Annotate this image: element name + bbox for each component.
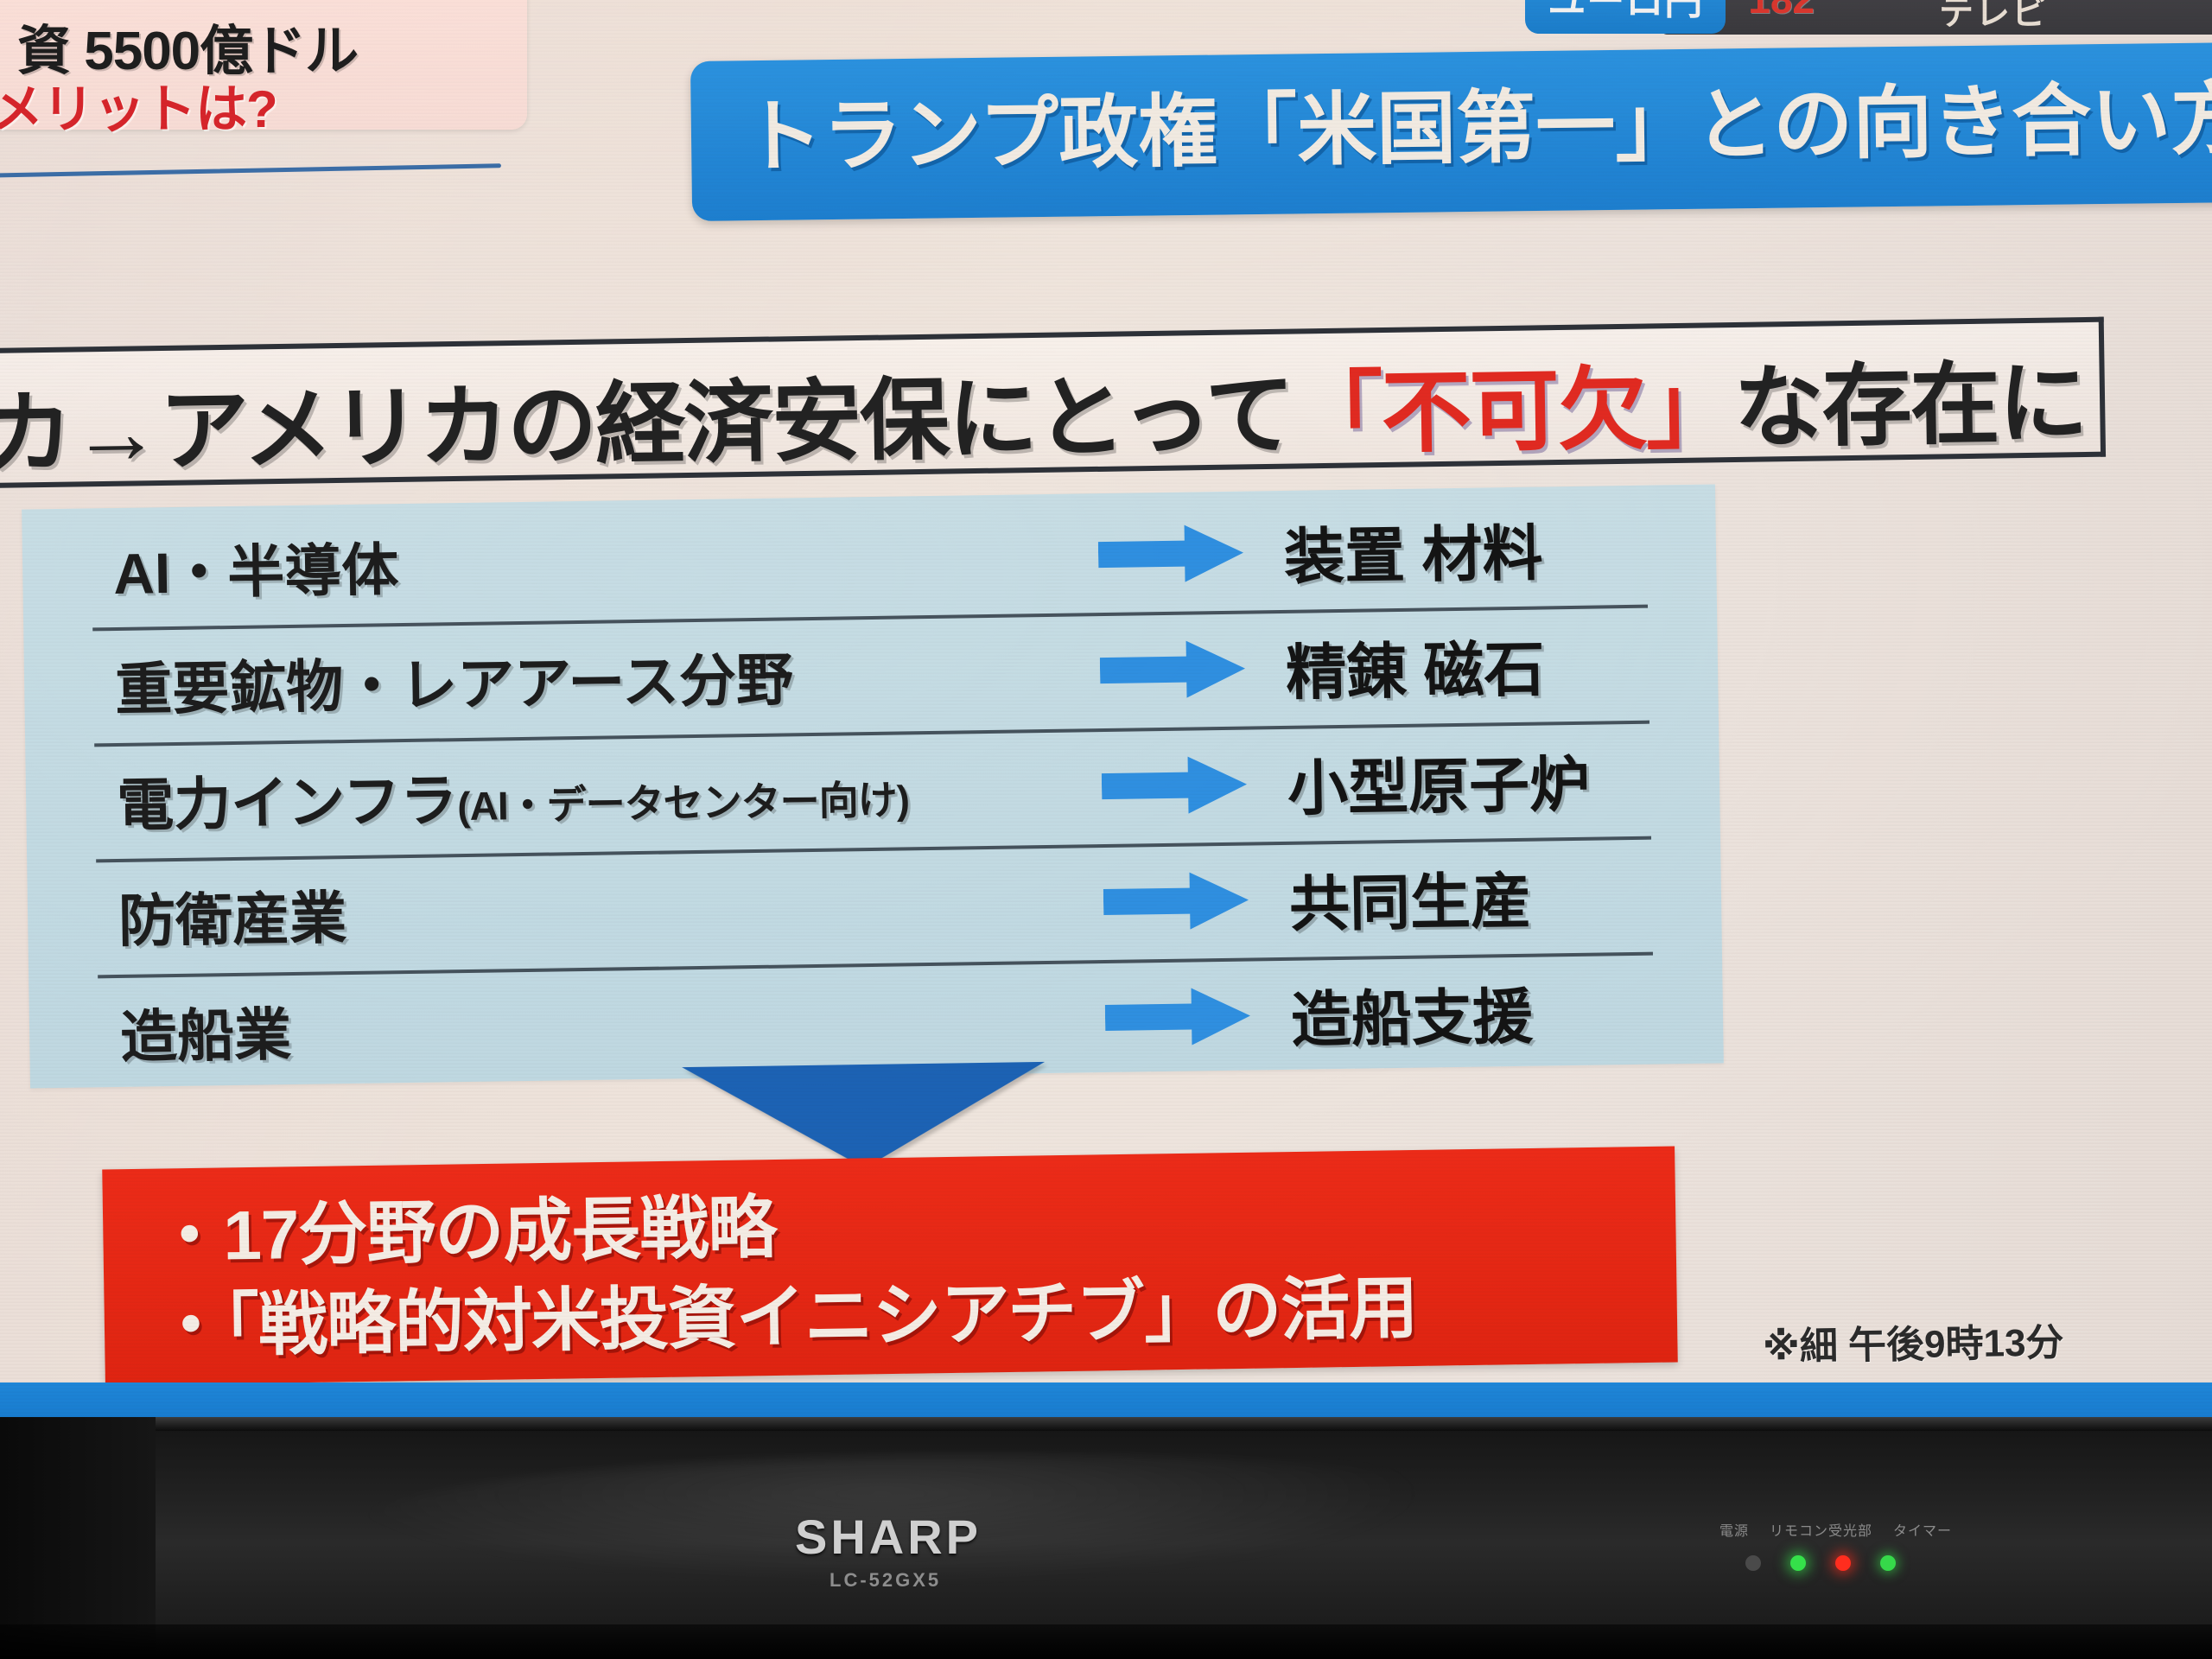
led-off-icon	[1745, 1555, 1761, 1571]
table-cell-field-note: (AI・データセンター向け)	[457, 777, 909, 829]
headline-highlight: 「不可欠」	[1293, 359, 1735, 466]
right-arrow-icon	[1102, 754, 1249, 817]
indicator-label-remote: リモコン受光部	[1770, 1519, 1872, 1540]
conclusion-box: ・17分野の成長戦略 ・「戦略的対米投資イニシアチブ」の活用	[102, 1147, 1678, 1386]
led-green2-icon	[1880, 1555, 1896, 1571]
led-red-icon	[1835, 1555, 1851, 1571]
tv-model-label: LC-52GX5	[829, 1569, 941, 1592]
pink-panel-underline	[0, 163, 501, 178]
bezel-left-shadow	[0, 1417, 156, 1659]
pink-side-panel: 資 5500億ドル メリットは?	[0, 0, 527, 130]
table-cell-result: 造船支援	[1290, 968, 1533, 1058]
broadcast-note: ※細 午後9時13分	[1763, 1311, 2064, 1370]
right-arrow-icon	[1100, 639, 1248, 702]
led-green-icon	[1790, 1555, 1806, 1571]
indicator-label-timer: タイマー	[1893, 1519, 1952, 1540]
table-cell-result: 精錬 磁石	[1285, 620, 1545, 711]
program-topic-title: トランプ政権「米国第一」との向き合い方	[742, 54, 2212, 188]
right-arrow-icon	[1104, 986, 1252, 1049]
table-cell-field: 造船業	[119, 988, 291, 1074]
table-cell-field: AI・半導体	[112, 524, 398, 611]
sector-table: AI・半導体装置 材料重要鉱物・レアアース分野精錬 磁石電力インフラ(AI・デー…	[22, 484, 1724, 1088]
bezel-sheen	[363, 1455, 1659, 1585]
conclusion-bullet-2: ・「戦略的対米投資イニシアチブ」の活用	[156, 1252, 1418, 1371]
indicator-leds	[1745, 1555, 1896, 1571]
tv-brand-logo: SHARP	[795, 1509, 982, 1565]
table-cell-field: 防衛産業	[118, 872, 346, 958]
channel-label: テレビ	[1939, 0, 2048, 35]
headline-box: カ→アメリカの経済安保にとって「不可欠」な存在に	[0, 317, 2106, 489]
program-topic-banner: トランプ政権「米国第一」との向き合い方	[690, 42, 2212, 221]
down-arrow-icon	[682, 1062, 1046, 1171]
tv-screen-content: 資 5500億ドル メリットは? テレビ ユーロ円 182 トランプ政権「米国第…	[0, 0, 2212, 1434]
photo-of-tv-screen: 資 5500億ドル メリットは? テレビ ユーロ円 182 トランプ政権「米国第…	[0, 0, 2212, 1659]
table-cell-field: 重要鉱物・レアアース分野	[114, 633, 793, 727]
tv-bezel: SHARP LC-52GX5 電源 リモコン受光部 タイマー	[0, 1417, 2212, 1659]
table-cell-result: 共同生産	[1288, 852, 1531, 943]
right-arrow-icon	[1098, 523, 1246, 586]
table-cell-result: 小型原子炉	[1287, 735, 1590, 827]
table-cell-result: 装置 材料	[1283, 505, 1543, 595]
headline-text: カ→アメリカの経済安保にとって「不可欠」な存在に	[0, 329, 2088, 491]
indicator-labels: 電源 リモコン受光部 タイマー	[1719, 1519, 1952, 1540]
table-cell-field: 電力インフラ(AI・データセンター向け)	[116, 747, 909, 842]
right-arrow-icon	[1103, 870, 1250, 933]
indicator-label-power: 電源	[1719, 1519, 1749, 1540]
ticker-pair-label: ユーロ円	[1525, 0, 1726, 34]
pink-panel-line-2: メリットは?	[0, 67, 277, 143]
market-ticker: ユーロ円 182	[1525, 0, 1815, 35]
headline-suffix: な存在に	[1733, 353, 2088, 459]
headline-prefix: カ→アメリカの経済安保にとって	[0, 365, 1294, 485]
ticker-value: 182	[1748, 0, 1815, 22]
bezel-bottom-shadow	[0, 1624, 2212, 1659]
